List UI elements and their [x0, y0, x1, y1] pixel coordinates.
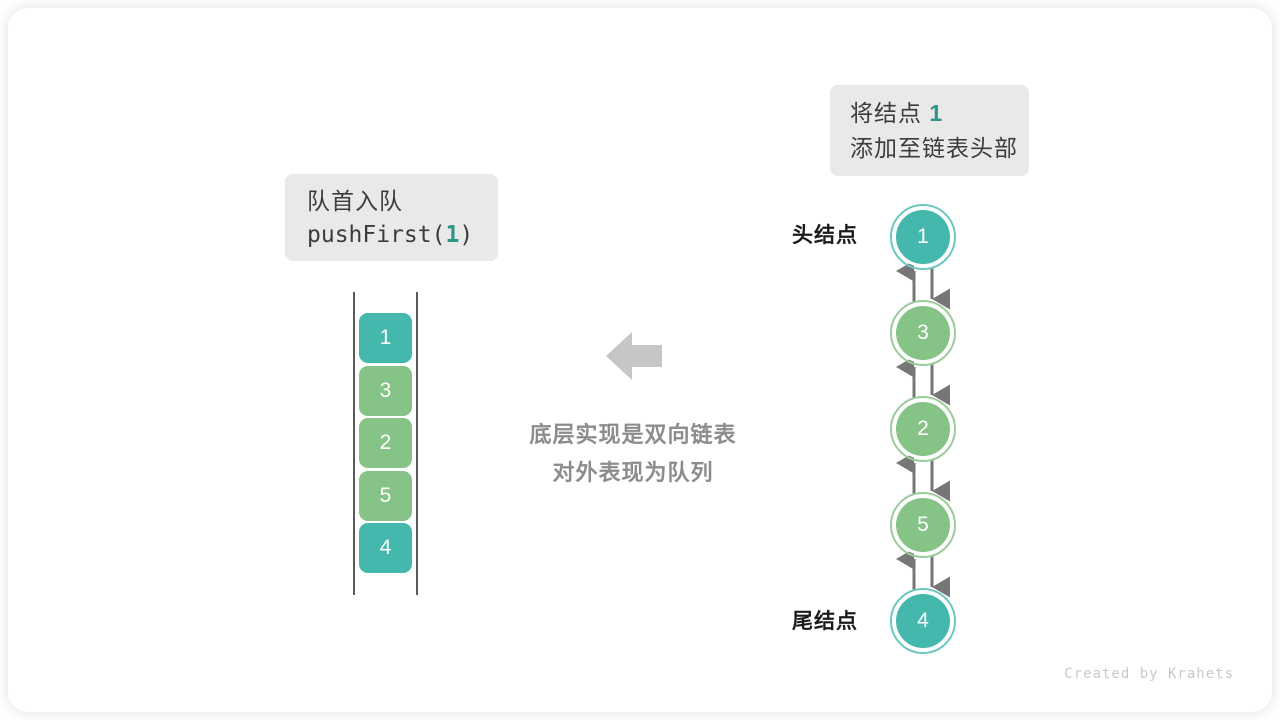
operation-call-value: 1: [445, 222, 459, 248]
note-label-box: 将结点 1 添加至链表头部: [830, 85, 1029, 176]
operation-label-line1: 队首入队: [307, 184, 498, 218]
operation-label-line2: pushFirst(1): [307, 218, 498, 252]
center-caption: 底层实现是双向链表 对外表现为队列: [488, 416, 778, 492]
queue-item-value: 2: [380, 431, 392, 455]
linked-list-node-value: 3: [917, 321, 929, 345]
queue-item-value: 5: [380, 484, 392, 508]
queue-rail-right: [416, 292, 418, 595]
linked-list-node-value: 4: [917, 609, 929, 633]
diagram-canvas: 队首入队 pushFirst(1) 将结点 1 添加至链表头部 底层实现是双向链…: [0, 0, 1280, 720]
linked-list-node: 1: [896, 210, 950, 264]
queue-item: 4: [359, 523, 412, 573]
left-arrow-icon: [604, 326, 664, 386]
linked-list-node-value: 1: [917, 225, 929, 249]
queue-item: 5: [359, 471, 412, 521]
queue-item-value: 3: [380, 379, 392, 403]
linked-list-node-value: 2: [917, 417, 929, 441]
queue-rail-left: [353, 292, 355, 595]
note-label-line1: 将结点 1: [850, 96, 1029, 131]
note-label-value: 1: [929, 100, 943, 126]
credit-text: Created by Krahets: [1064, 666, 1234, 682]
queue-item-value: 1: [380, 326, 392, 350]
queue-item: 3: [359, 366, 412, 416]
operation-call-prefix: pushFirst(: [307, 222, 445, 248]
linked-list-node-value: 5: [917, 513, 929, 537]
center-caption-line2: 对外表现为队列: [488, 454, 778, 492]
diagram-card: 队首入队 pushFirst(1) 将结点 1 添加至链表头部 底层实现是双向链…: [8, 8, 1272, 712]
linked-list-container: 13254: [888, 198, 968, 648]
operation-call-suffix: ): [459, 222, 473, 248]
linked-list-node: 3: [896, 306, 950, 360]
tail-node-label: 尾结点: [792, 605, 858, 635]
linked-list-node: 5: [896, 498, 950, 552]
linked-list-node: 2: [896, 402, 950, 456]
linked-list-node: 4: [896, 594, 950, 648]
note-label-line2: 添加至链表头部: [850, 131, 1029, 166]
center-caption-line1: 底层实现是双向链表: [488, 416, 778, 454]
note-label-prefix: 将结点: [850, 100, 929, 126]
queue-item: 2: [359, 418, 412, 468]
queue-container: 13254: [353, 292, 418, 595]
head-node-label: 头结点: [792, 219, 858, 249]
queue-item: 1: [359, 313, 412, 363]
operation-label-box: 队首入队 pushFirst(1): [285, 174, 498, 261]
queue-item-value: 4: [380, 536, 392, 560]
